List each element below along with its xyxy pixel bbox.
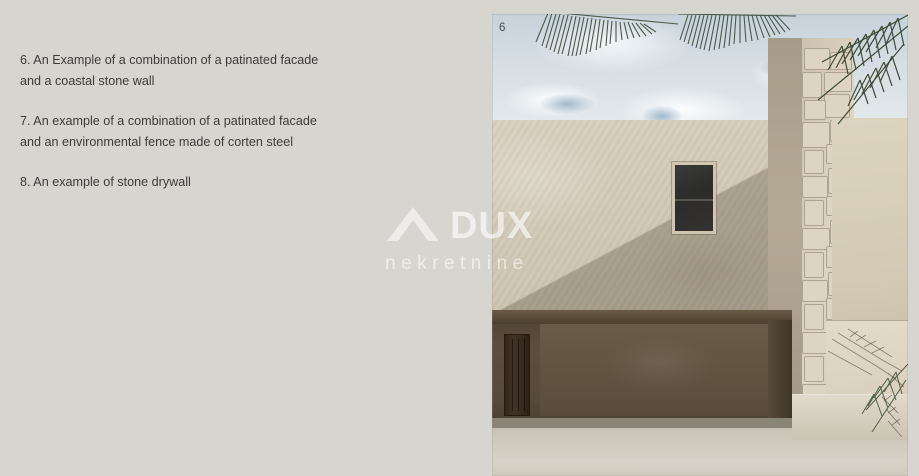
chevron-roof-icon xyxy=(385,203,441,249)
property-photo: 6 xyxy=(492,14,908,476)
pine-branch-icon xyxy=(678,14,798,72)
pine-branch-icon xyxy=(812,14,908,134)
pine-branch-icon xyxy=(528,14,678,82)
slide-canvas: 6. An Example of a combination of a pati… xyxy=(0,0,919,476)
caption-list: 6. An Example of a combination of a pati… xyxy=(20,50,340,193)
photo-number-label: 6 xyxy=(499,22,505,34)
caption-item-7: 7. An example of a combination of a pati… xyxy=(20,111,340,154)
caption-item-6: 6. An Example of a combination of a pati… xyxy=(20,50,340,93)
caption-item-8: 8. An example of stone drywall xyxy=(20,172,340,193)
pine-branch-icon xyxy=(840,358,908,448)
